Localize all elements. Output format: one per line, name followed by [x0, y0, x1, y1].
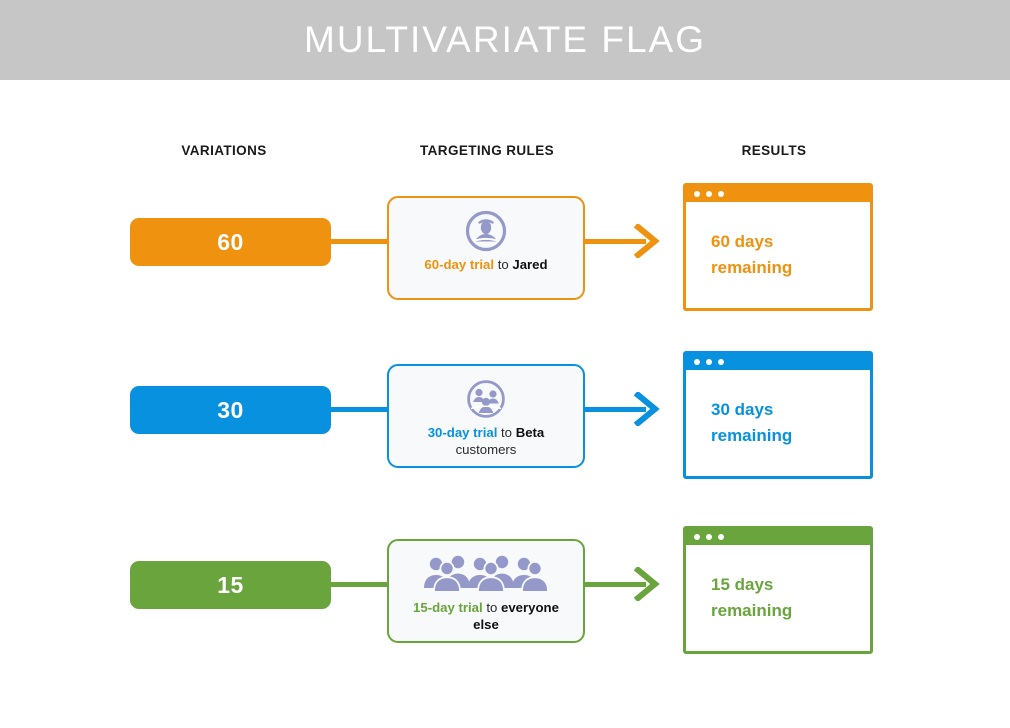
targeting-rule-card-15[interactable]: 15-day trial to everyone else — [387, 539, 585, 643]
result-line-2: remaining — [711, 255, 792, 281]
result-line-1: 15 days — [711, 572, 792, 598]
rule-description: 60-day trial to Jared — [414, 256, 557, 273]
variation-pill-60[interactable]: 60 — [130, 218, 331, 266]
result-window-30[interactable]: 30 days remaining — [683, 351, 873, 479]
window-dot-2 — [706, 191, 712, 197]
result-line-1: 30 days — [711, 397, 792, 423]
rule-description: 15-day trial to everyone else — [389, 599, 583, 633]
result-text: 15 days remaining — [711, 572, 792, 624]
window-titlebar — [686, 529, 870, 545]
result-line-2: remaining — [711, 598, 792, 624]
rule-accent-text: 15-day trial — [413, 600, 483, 615]
variation-value: 60 — [217, 229, 244, 256]
window-dot-1 — [694, 359, 700, 365]
flag-row-15: 15 — [0, 511, 1010, 671]
window-dot-1 — [694, 534, 700, 540]
arrow-right-icon — [634, 224, 660, 258]
single-user-circle-icon — [465, 208, 507, 254]
connector-line-left — [331, 407, 389, 412]
rule-accent-text: 60-day trial — [424, 257, 494, 272]
window-dot-2 — [706, 359, 712, 365]
result-line-2: remaining — [711, 423, 792, 449]
window-dot-1 — [694, 191, 700, 197]
column-heading-results: RESULTS — [742, 143, 807, 158]
window-body: 60 days remaining — [686, 202, 870, 308]
window-dot-3 — [718, 534, 724, 540]
rule-target-suffix: customers — [456, 442, 517, 457]
rule-connector-text: to — [483, 600, 501, 615]
connector-line-left — [331, 239, 389, 244]
page-title: MULTIVARIATE FLAG — [304, 19, 706, 61]
window-body: 30 days remaining — [686, 370, 870, 476]
window-titlebar — [686, 354, 870, 370]
result-window-15[interactable]: 15 days remaining — [683, 526, 873, 654]
window-body: 15 days remaining — [686, 545, 870, 651]
window-dot-2 — [706, 534, 712, 540]
variation-pill-30[interactable]: 30 — [130, 386, 331, 434]
variation-pill-15[interactable]: 15 — [130, 561, 331, 609]
connector-line-left — [331, 582, 389, 587]
targeting-rule-card-30[interactable]: 30-day trial to Beta customers — [387, 364, 585, 468]
window-dot-3 — [718, 191, 724, 197]
arrow-right-icon — [634, 567, 660, 601]
flag-row-30: 30 30-day trial to Beta customers — [0, 336, 1010, 496]
group-users-circle-icon — [466, 376, 506, 422]
window-dot-3 — [718, 359, 724, 365]
rule-target-text: Jared — [512, 257, 547, 272]
rule-connector-text: to — [494, 257, 512, 272]
crowd-people-icon — [420, 551, 552, 597]
result-line-1: 60 days — [711, 229, 792, 255]
result-text: 30 days remaining — [711, 397, 792, 449]
variation-value: 15 — [217, 572, 244, 599]
variation-value: 30 — [217, 397, 244, 424]
column-heading-variations: VARIATIONS — [181, 143, 266, 158]
column-heading-targeting-rules: TARGETING RULES — [420, 143, 554, 158]
flag-row-60: 60 60-day trial to Jared — [0, 168, 1010, 328]
result-text: 60 days remaining — [711, 229, 792, 281]
rule-connector-text: to — [497, 425, 515, 440]
window-titlebar — [686, 186, 870, 202]
header-bar: MULTIVARIATE FLAG — [0, 0, 1010, 80]
result-window-60[interactable]: 60 days remaining — [683, 183, 873, 311]
targeting-rule-card-60[interactable]: 60-day trial to Jared — [387, 196, 585, 300]
rule-accent-text: 30-day trial — [428, 425, 498, 440]
diagram-page: MULTIVARIATE FLAG VARIATIONS TARGETING R… — [0, 0, 1010, 728]
arrow-right-icon — [634, 392, 660, 426]
rule-target-text: Beta — [516, 425, 545, 440]
rule-description: 30-day trial to Beta customers — [389, 424, 583, 458]
